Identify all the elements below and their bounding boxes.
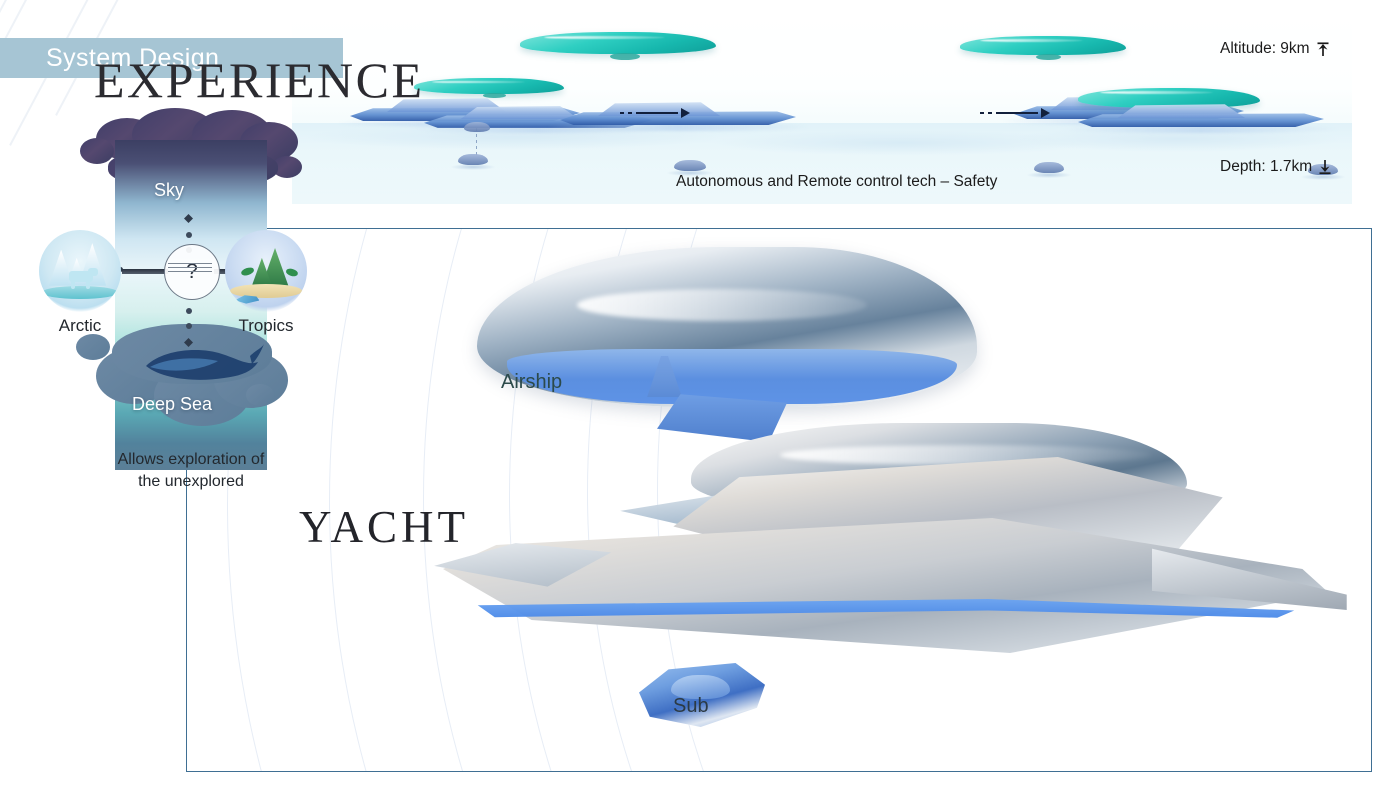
yacht-superstructure (1117, 104, 1245, 118)
deep-sea-blob (76, 334, 110, 360)
hub-bar-left (122, 269, 168, 274)
biome-tropics: Tropics (218, 230, 314, 336)
polar-bear-leg (86, 280, 90, 289)
polar-bear-head (88, 268, 98, 276)
environment-diagram: Sky Deep Sea ? Arctic (36, 112, 346, 512)
scene-sub (1034, 162, 1064, 173)
diamond-marker (184, 214, 193, 223)
flow-arrow (980, 108, 1050, 118)
deep-sea-label: Deep Sea (132, 394, 212, 415)
environment-footnote: Allows exploration of the unexplored (36, 449, 346, 492)
yacht-upper-sheen (780, 445, 1152, 465)
flow-arrow (620, 108, 690, 118)
altitude-metric: Altitude: 9km (1220, 40, 1330, 58)
nebula-blob (80, 138, 114, 164)
scene-sub (458, 154, 488, 165)
biome-arctic: Arctic (32, 230, 128, 336)
arrow-head (1041, 108, 1050, 118)
sub-body (1034, 162, 1064, 173)
biome-label: Tropics (218, 316, 314, 336)
scene-caption: Autonomous and Remote control tech – Saf… (676, 173, 997, 191)
scene-airship (520, 32, 716, 54)
polar-bear-leg (71, 280, 75, 289)
depth-label: Depth: 1.7km (1220, 158, 1312, 176)
hub-rings (168, 260, 212, 275)
footnote-line-2: the unexplored (36, 471, 346, 493)
palm-tree (241, 266, 255, 276)
depth-metric: Depth: 1.7km (1220, 158, 1332, 176)
page-title: EXPERIENCE (94, 55, 425, 105)
island-sand (230, 284, 302, 298)
airship-glint (544, 36, 666, 40)
arrow-down-icon (1318, 159, 1332, 175)
airship-glint (432, 81, 525, 84)
arrow-shaft (996, 112, 1038, 115)
altitude-label: Altitude: 9km (1220, 40, 1310, 58)
product-panel: Airship YACHT Sub (186, 228, 1372, 772)
airship-sheen (577, 289, 867, 321)
airship-pod (610, 53, 639, 60)
footnote-line-1: Allows exploration of (36, 449, 346, 471)
polar-bear-iceberg-icon (39, 230, 121, 312)
sub-body (674, 160, 706, 171)
arrow-shaft (636, 112, 678, 115)
airship-belly (507, 349, 957, 403)
biome-label: Arctic (32, 316, 128, 336)
sub-label: Sub (673, 695, 709, 718)
scene-airship (960, 36, 1126, 55)
airship-label: Airship (501, 371, 562, 394)
hero-yacht-render (443, 423, 1329, 713)
arctic-water (42, 286, 117, 299)
scene-yacht (1078, 96, 1324, 142)
dot-marker (186, 308, 192, 314)
sub-body (464, 122, 490, 132)
palm-tree (285, 268, 299, 278)
arrow-head (681, 108, 690, 118)
arrow-up-icon (1316, 41, 1330, 57)
dot-marker (186, 323, 192, 329)
tropical-island-icon (225, 230, 307, 312)
scene-sub (674, 160, 706, 171)
dot-marker (186, 232, 192, 238)
whale-icon (140, 340, 264, 394)
sky-label: Sky (154, 180, 184, 201)
scene-sub (464, 122, 490, 132)
sub-body (458, 154, 488, 165)
